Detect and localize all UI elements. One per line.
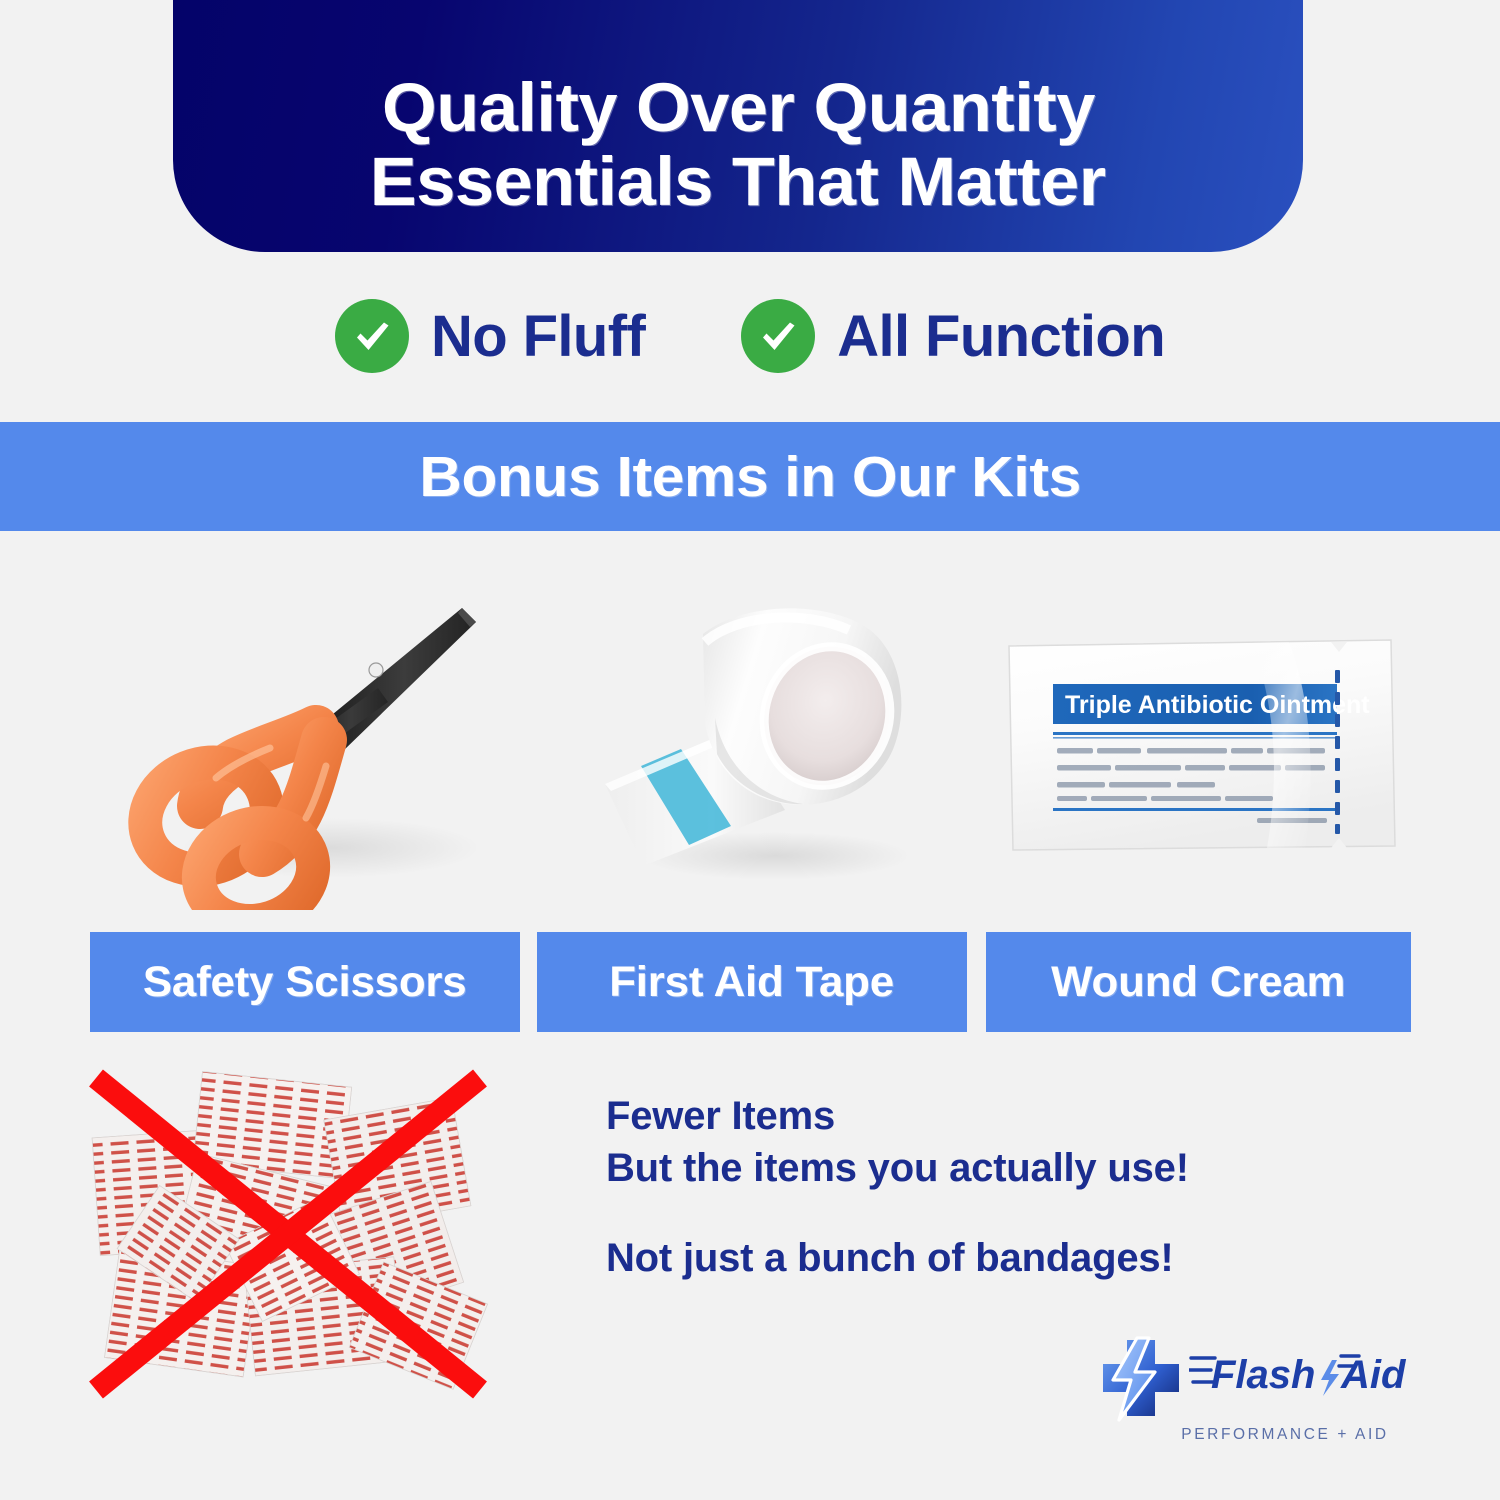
product-label-wound-cream: Wound Cream bbox=[986, 932, 1411, 1032]
header-title-line-2: Essentials That Matter bbox=[370, 145, 1106, 220]
copy-line-2: But the items you actually use! bbox=[606, 1142, 1326, 1194]
logo-row: Flash Aid bbox=[1093, 1336, 1423, 1422]
first-aid-tape-photo bbox=[565, 598, 945, 898]
product-label-text: Safety Scissors bbox=[143, 958, 467, 1007]
bonus-items-band: Bonus Items in Our Kits bbox=[0, 422, 1500, 531]
bottom-copy-block: Fewer Items But the items you actually u… bbox=[606, 1090, 1326, 1284]
bandage-pile-block bbox=[88, 1070, 508, 1410]
bonus-items-title: Bonus Items in Our Kits bbox=[419, 444, 1081, 510]
logo-tagline: PERFORMANCE + AID bbox=[1093, 1426, 1423, 1444]
infographic-page: Quality Over Quantity Essentials That Ma… bbox=[0, 0, 1500, 1500]
feature-check-row: No Fluff All Function bbox=[0, 283, 1500, 389]
wound-cream-photo: Triple Antibiotic Ointment bbox=[1005, 636, 1397, 856]
medical-cross-lightning-icon bbox=[1093, 1336, 1185, 1422]
product-label-text: First Aid Tape bbox=[610, 958, 895, 1007]
product-label-safety-scissors: Safety Scissors bbox=[90, 932, 520, 1032]
product-label-first-aid-tape: First Aid Tape bbox=[537, 932, 967, 1032]
flash-aid-logo: Flash Aid PERFORMANCE + AID bbox=[1093, 1336, 1423, 1454]
feature-item-all-function: All Function bbox=[741, 299, 1165, 373]
header-title-line-1: Quality Over Quantity bbox=[382, 71, 1095, 146]
feature-label: No Fluff bbox=[431, 303, 645, 370]
check-circle-icon bbox=[335, 299, 409, 373]
feature-item-no-fluff: No Fluff bbox=[335, 299, 645, 373]
feature-label: All Function bbox=[837, 303, 1165, 370]
copy-line-1: Fewer Items bbox=[606, 1090, 1326, 1142]
packet-title: Triple Antibiotic Ointment bbox=[1065, 691, 1370, 719]
cross-out-x-icon bbox=[68, 1060, 528, 1420]
copy-line-3: Not just a bunch of bandages! bbox=[606, 1232, 1326, 1284]
logo-wordmark: Flash Aid bbox=[1189, 1344, 1417, 1414]
safety-scissors-photo bbox=[120, 580, 540, 910]
logo-word-aid: Aid bbox=[1340, 1353, 1407, 1397]
header-banner: Quality Over Quantity Essentials That Ma… bbox=[173, 0, 1303, 252]
check-circle-icon bbox=[741, 299, 815, 373]
copy-spacer bbox=[606, 1194, 1326, 1232]
product-label-text: Wound Cream bbox=[1051, 958, 1345, 1007]
logo-word-flash: Flash bbox=[1211, 1353, 1315, 1397]
